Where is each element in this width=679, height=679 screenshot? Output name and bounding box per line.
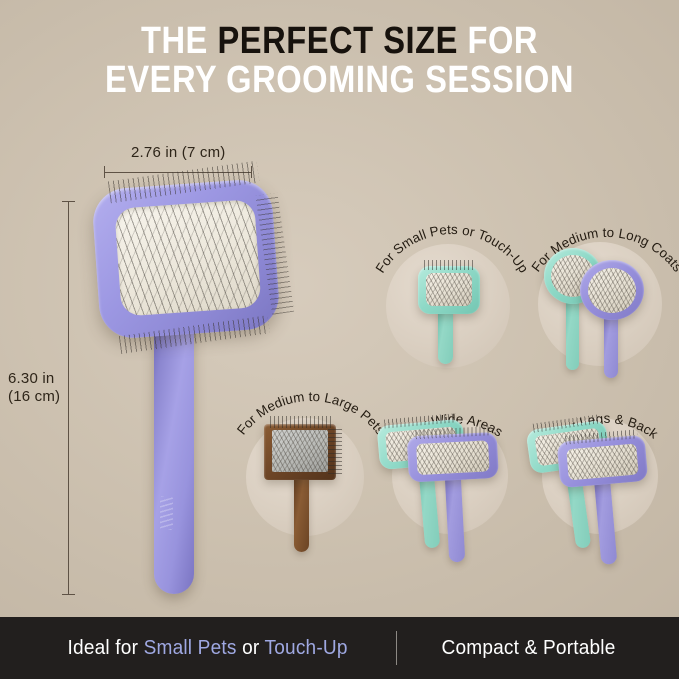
bottom-bar-divider — [396, 631, 397, 665]
headline-word-the: THE — [141, 20, 218, 62]
bottom-feature-bar: Ideal for Small Pets or Touch-Up Compact… — [0, 617, 679, 679]
mini-bristle-fringe — [424, 260, 476, 270]
mini-brush-purple-oval — [578, 260, 652, 378]
callout-medium-to-long-coats: For Medium to Long Coats — [528, 232, 674, 378]
mini-brush-wooden — [264, 424, 346, 552]
hero-brush-pad — [114, 199, 261, 317]
mini-pad — [416, 440, 490, 475]
headline-word-perfect-size: PERFECT SIZE — [217, 20, 457, 62]
mini-pad — [426, 273, 472, 306]
height-dimension-cm: (16 cm) — [8, 388, 60, 406]
headline-line-2: EVERY GROOMING SESSION — [48, 61, 632, 100]
callout-legs-and-back: For Legs & Back — [528, 400, 678, 560]
callout-small-pets-touch-up: For Small Pets or Touch-Up — [378, 236, 518, 376]
mini-pad — [588, 268, 636, 313]
product-infographic: THE PERFECT SIZE FOR EVERY GROOMING SESS… — [0, 0, 679, 679]
height-guide-cap-top — [62, 201, 75, 202]
height-dimension-label: 6.30 in (16 cm) — [8, 370, 60, 407]
callout-wide-areas: For Wide Areas — [378, 400, 528, 560]
mini-pad — [272, 430, 328, 472]
bottom-bar-left-slot: Ideal for Small Pets or Touch-Up — [57, 636, 358, 660]
hero-brush-handle — [154, 316, 194, 594]
mini-pad — [566, 443, 638, 480]
bar-accent-touch-up: Touch-Up — [264, 636, 347, 659]
mini-brush-mint — [416, 266, 482, 364]
hero-brush-pins — [114, 199, 261, 317]
bottom-bar-left-text: Ideal for Small Pets or Touch-Up — [67, 636, 347, 660]
mini-brush-purple-wide — [407, 432, 508, 567]
headline-line-1: THE PERFECT SIZE FOR — [48, 22, 632, 61]
headline-word-for: FOR — [458, 20, 538, 62]
callout-medium-to-large-pets: For Medium to Large Pets — [238, 406, 378, 556]
bottom-bar-right-slot: Compact & Portable — [435, 636, 622, 660]
bar-accent-small-pets: Small Pets — [143, 636, 236, 659]
mini-bristle-fringe — [270, 416, 332, 428]
hero-brush-handle-grip — [160, 496, 173, 530]
height-guide-line — [68, 201, 69, 595]
headline-block: THE PERFECT SIZE FOR EVERY GROOMING SESS… — [0, 22, 679, 100]
mini-bristle-fringe-right — [328, 426, 342, 474]
bar-text-or: or — [236, 636, 264, 659]
mini-handle — [445, 474, 466, 563]
mini-handle — [294, 474, 309, 552]
mini-brush-purple-legs — [557, 434, 662, 570]
height-guide-cap-bottom — [62, 594, 75, 595]
mini-handle — [438, 308, 453, 364]
width-dimension-label: 2.76 in (7 cm) — [131, 144, 226, 161]
bar-text-ideal-for: Ideal for — [67, 636, 143, 659]
height-dimension-inches: 6.30 in — [8, 370, 60, 388]
hero-brush-head — [91, 178, 281, 340]
bottom-bar-right-text: Compact & Portable — [442, 636, 616, 660]
mini-handle — [604, 310, 618, 378]
mini-handle — [594, 478, 617, 565]
